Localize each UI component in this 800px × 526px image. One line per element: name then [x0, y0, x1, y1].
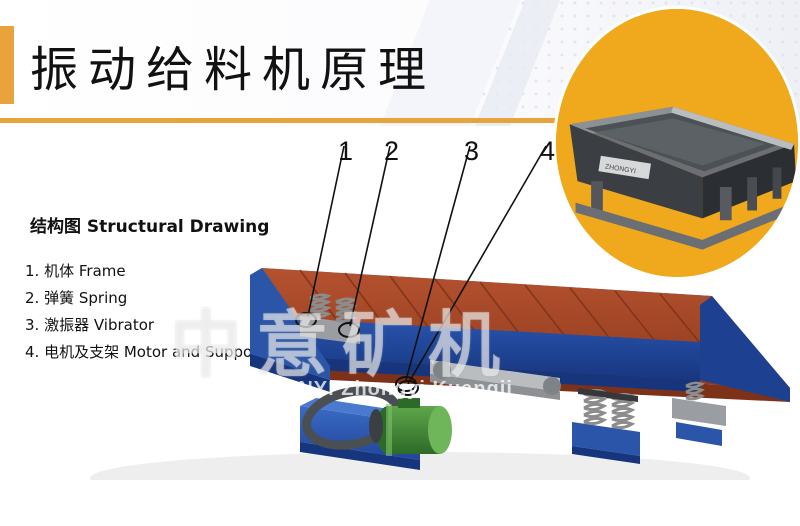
- callout-number-2: 2: [384, 136, 399, 167]
- callout-number-4: 4: [540, 136, 555, 167]
- page-title: 振动给料机原理: [30, 30, 436, 100]
- electric-motor: [369, 398, 452, 456]
- spring-group-right: [572, 388, 640, 464]
- machine-illustration: [0, 130, 800, 526]
- title-accent-bar: [0, 26, 14, 104]
- callout-number-3: 3: [464, 136, 479, 167]
- title-underline: [0, 118, 600, 123]
- callout-number-1: 1: [338, 136, 353, 167]
- bottom-white-strip: [0, 480, 800, 526]
- diagram-page: 振动给料机原理 ZHONGYI: [0, 0, 800, 526]
